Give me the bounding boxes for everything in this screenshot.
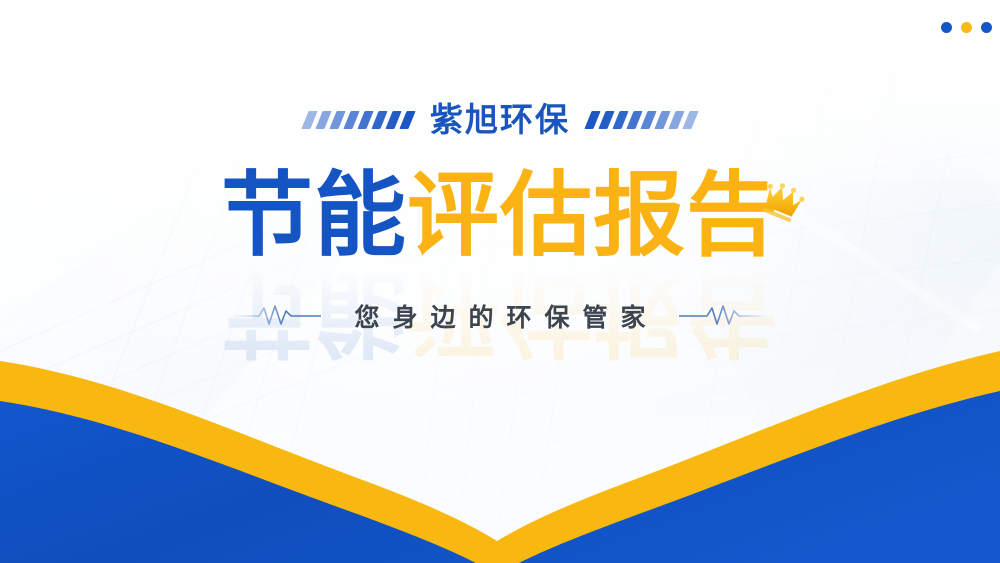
cover-slide: 紫旭环保 节能评估报告 节能评估报告	[0, 0, 1000, 563]
crown-icon	[759, 146, 805, 243]
brand-name: 紫旭环保	[430, 103, 570, 136]
brand-row: 紫旭环保	[0, 103, 1000, 136]
title-part-blue: 节能	[221, 165, 407, 267]
slanted-dash-icon-left	[305, 111, 412, 129]
dot-yellow	[961, 22, 972, 33]
title-part-gold: 评估报告	[407, 165, 779, 267]
main-title: 节能评估报告 节能评估报告	[221, 168, 779, 265]
dot-blue-1	[941, 22, 952, 33]
dot-blue-2	[981, 22, 992, 33]
title-wrap: 节能评估报告 节能评估报告	[0, 168, 1000, 265]
bottom-wave-decoration	[0, 313, 1000, 563]
slanted-dash-icon-right	[588, 111, 695, 129]
decor-dots	[941, 22, 992, 33]
